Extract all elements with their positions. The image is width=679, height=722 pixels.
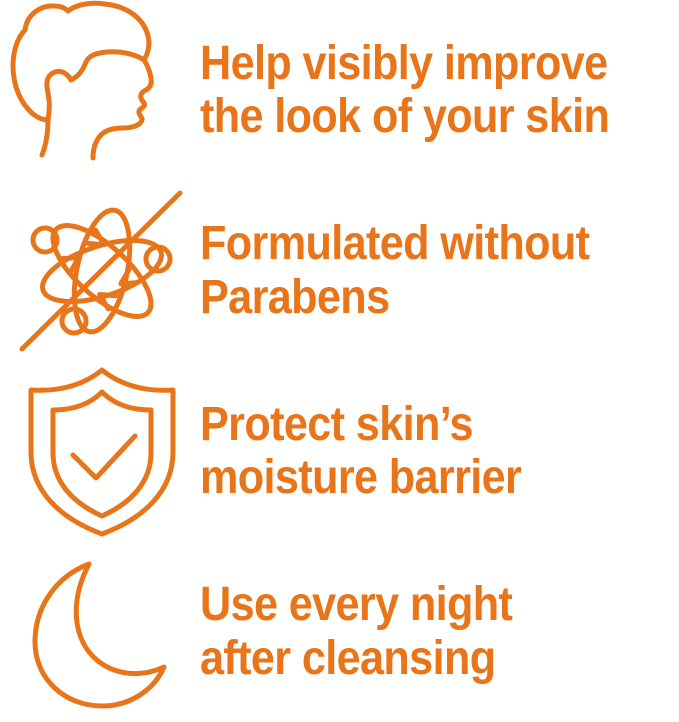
- benefit-label: Help visibly improve the look of your sk…: [200, 37, 609, 145]
- shield-check-icon: [0, 361, 200, 542]
- benefit-row: Formulated without Parabens: [0, 181, 679, 362]
- benefit-text-cell: Use every night after cleansing: [200, 542, 679, 722]
- benefit-label: Protect skin’s moisture barrier: [200, 398, 521, 506]
- benefits-list: Help visibly improve the look of your sk…: [0, 0, 679, 722]
- benefit-text-cell: Formulated without Parabens: [200, 181, 679, 362]
- benefit-text-cell: Protect skin’s moisture barrier: [200, 361, 679, 542]
- crescent-moon-icon: [0, 542, 200, 722]
- no-parabens-molecule-icon: [0, 181, 200, 362]
- benefit-text-cell: Help visibly improve the look of your sk…: [200, 0, 679, 181]
- face-profile-sparkles-icon: [0, 0, 200, 181]
- benefit-row: Use every night after cleansing: [0, 542, 679, 722]
- benefit-row: Help visibly improve the look of your sk…: [0, 0, 679, 181]
- benefit-label: Use every night after cleansing: [200, 578, 512, 686]
- benefit-label: Formulated without Parabens: [200, 217, 589, 325]
- benefit-row: Protect skin’s moisture barrier: [0, 361, 679, 542]
